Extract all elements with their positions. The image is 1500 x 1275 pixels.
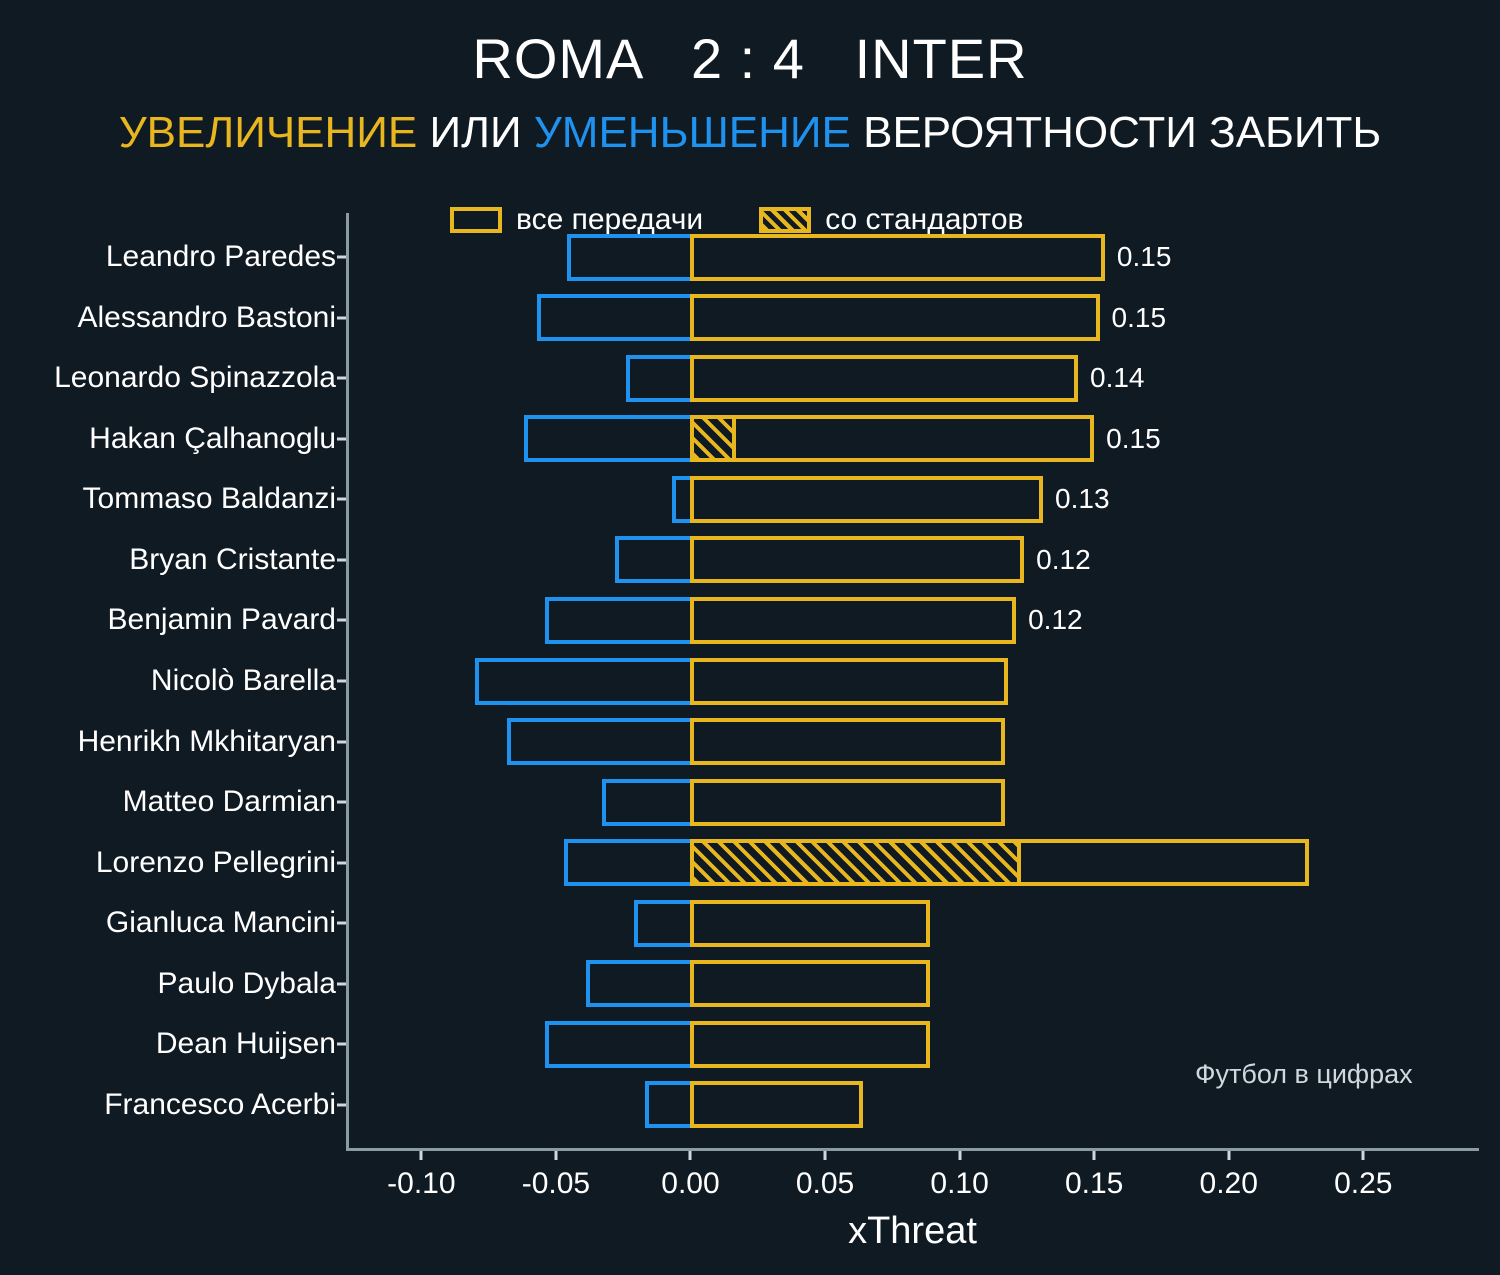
page-title: ROMA 2 : 4 INTER bbox=[0, 26, 1500, 91]
y-axis-tick bbox=[337, 801, 346, 804]
bar-negative[interactable] bbox=[634, 900, 695, 947]
x-axis-tick bbox=[1227, 1151, 1230, 1160]
bar-positive[interactable] bbox=[690, 536, 1024, 583]
bar-positive[interactable] bbox=[690, 960, 930, 1007]
bar-positive[interactable] bbox=[690, 1021, 930, 1068]
y-axis-tick bbox=[337, 316, 346, 319]
y-axis-tick-label: Matteo Darmian bbox=[123, 785, 336, 819]
page-subtitle: УВЕЛИЧЕНИЕ ИЛИ УМЕНЬШЕНИЕ ВЕРОЯТНОСТИ ЗА… bbox=[0, 108, 1500, 158]
y-axis-tick bbox=[337, 922, 346, 925]
bar-negative[interactable] bbox=[545, 1021, 694, 1068]
y-axis-tick-label: Henrikh Mkhitaryan bbox=[78, 725, 336, 759]
bar-value-label: 0.15 bbox=[1112, 302, 1167, 334]
y-axis-tick-label: Lorenzo Pellegrini bbox=[96, 846, 336, 880]
y-axis-tick bbox=[337, 1043, 346, 1046]
x-axis-tick bbox=[554, 1151, 557, 1160]
x-axis-tick-label: 0.00 bbox=[661, 1167, 719, 1201]
bar-negative[interactable] bbox=[507, 718, 694, 765]
y-axis-tick-label: Paulo Dybala bbox=[158, 967, 336, 1001]
x-axis-tick bbox=[1362, 1151, 1365, 1160]
y-axis-tick-label: Bryan Cristante bbox=[129, 543, 336, 577]
bar-value-label: 0.12 bbox=[1036, 544, 1091, 576]
x-axis-tick bbox=[420, 1151, 423, 1160]
y-axis-tick-label: Gianluca Mancini bbox=[106, 906, 336, 940]
y-axis-tick bbox=[337, 982, 346, 985]
y-axis-tick-label: Tommaso Baldanzi bbox=[83, 482, 336, 516]
bar-value-label: 0.12 bbox=[1028, 604, 1083, 636]
y-axis-tick bbox=[337, 498, 346, 501]
bar-negative[interactable] bbox=[545, 597, 694, 644]
bar-negative[interactable] bbox=[602, 779, 695, 826]
bar-positive[interactable] bbox=[690, 234, 1104, 281]
subtitle-increase-text: УВЕЛИЧЕНИЕ bbox=[119, 108, 418, 157]
y-axis-tick-label: Nicolò Barella bbox=[151, 664, 336, 698]
bar-negative[interactable] bbox=[645, 1081, 695, 1128]
bar-negative[interactable] bbox=[626, 355, 695, 402]
bar-negative[interactable] bbox=[524, 415, 695, 462]
bar-positive[interactable] bbox=[690, 658, 1008, 705]
y-axis-spine bbox=[346, 213, 349, 1151]
bar-positive[interactable] bbox=[690, 900, 930, 947]
y-axis-tick bbox=[337, 1103, 346, 1106]
bar-positive[interactable] bbox=[690, 718, 1005, 765]
bar-value-label: 0.13 bbox=[1055, 483, 1110, 515]
y-axis-tick bbox=[337, 740, 346, 743]
bar-value-label: 0.15 bbox=[1117, 241, 1172, 273]
y-axis-tick bbox=[337, 558, 346, 561]
bar-positive[interactable] bbox=[690, 355, 1078, 402]
x-axis-tick bbox=[1093, 1151, 1096, 1160]
y-axis-tick-label: Dean Huijsen bbox=[156, 1027, 336, 1061]
subtitle-tail-text: ВЕРОЯТНОСТИ ЗАБИТЬ bbox=[851, 108, 1381, 157]
x-axis-tick-label: -0.10 bbox=[387, 1167, 455, 1201]
y-axis-tick-label: Leandro Paredes bbox=[106, 240, 336, 274]
x-axis-tick-label: 0.10 bbox=[930, 1167, 988, 1201]
y-axis-tick-label: Francesco Acerbi bbox=[104, 1088, 336, 1122]
y-axis-tick bbox=[337, 619, 346, 622]
bar-set-piece[interactable] bbox=[690, 839, 1021, 886]
subtitle-or-text: ИЛИ bbox=[417, 108, 534, 157]
bar-negative[interactable] bbox=[586, 960, 695, 1007]
y-axis-tick bbox=[337, 377, 346, 380]
x-axis-label: xThreat bbox=[346, 1210, 1479, 1253]
y-axis-tick-label: Benjamin Pavard bbox=[108, 603, 336, 637]
bar-negative[interactable] bbox=[567, 234, 695, 281]
bar-negative[interactable] bbox=[537, 294, 694, 341]
bar-value-label: 0.15 bbox=[1106, 423, 1161, 455]
bar-positive[interactable] bbox=[690, 476, 1043, 523]
bar-positive[interactable] bbox=[690, 415, 1094, 462]
x-axis-tick bbox=[824, 1151, 827, 1160]
bar-negative[interactable] bbox=[564, 839, 694, 886]
y-axis-tick-label: Leonardo Spinazzola bbox=[54, 361, 336, 395]
x-axis-tick-label: 0.15 bbox=[1065, 1167, 1123, 1201]
y-axis-tick bbox=[337, 256, 346, 259]
x-axis-tick-label: 0.20 bbox=[1200, 1167, 1258, 1201]
x-axis-tick-label: 0.25 bbox=[1334, 1167, 1392, 1201]
x-axis-tick bbox=[958, 1151, 961, 1160]
bar-positive[interactable] bbox=[690, 1081, 862, 1128]
x-axis-tick-label: 0.05 bbox=[796, 1167, 854, 1201]
watermark: Футбол в цифрах bbox=[1195, 1059, 1413, 1090]
bar-positive[interactable] bbox=[690, 597, 1016, 644]
subtitle-decrease-text: УМЕНЬШЕНИЕ bbox=[534, 108, 851, 157]
x-axis-tick bbox=[689, 1151, 692, 1160]
bar-positive[interactable] bbox=[690, 294, 1099, 341]
bar-negative[interactable] bbox=[615, 536, 694, 583]
x-axis-spine bbox=[346, 1148, 1479, 1151]
chart-plot-area: -0.10-0.050.000.050.100.150.200.25Leandr… bbox=[346, 213, 1479, 1151]
y-axis-tick-label: Alessandro Bastoni bbox=[78, 301, 337, 335]
bar-set-piece[interactable] bbox=[690, 415, 736, 462]
y-axis-tick bbox=[337, 437, 346, 440]
x-axis-tick-label: -0.05 bbox=[522, 1167, 590, 1201]
y-axis-tick-label: Hakan Çalhanoglu bbox=[89, 422, 336, 456]
bar-value-label: 0.14 bbox=[1090, 362, 1145, 394]
bar-positive[interactable] bbox=[690, 779, 1005, 826]
y-axis-tick bbox=[337, 861, 346, 864]
bar-negative[interactable] bbox=[475, 658, 694, 705]
y-axis-tick bbox=[337, 680, 346, 683]
